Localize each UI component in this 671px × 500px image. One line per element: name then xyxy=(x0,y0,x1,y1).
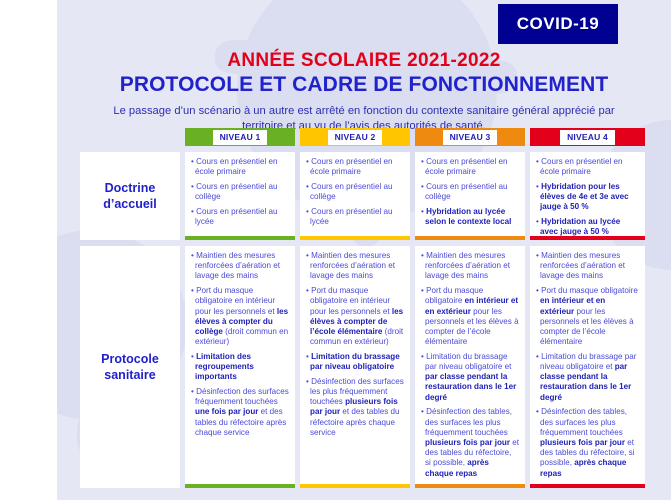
bullet-item: • Port du masque obligatoire en intérieu… xyxy=(306,286,404,347)
bullet-text: Cours en présentiel en école primaire xyxy=(195,157,278,176)
bullet-text: Maintien des mesures renforcées d’aérati… xyxy=(310,251,395,280)
bullet-text: Maintien des mesures renforcées d’aérati… xyxy=(425,251,510,280)
bullet-text: Cours en présentiel au collège xyxy=(195,182,278,201)
bullet-text: Cours en présentiel au collège xyxy=(310,182,393,201)
bullet-item: • Cours en présentiel en école primaire xyxy=(191,157,289,177)
bullet-item: • Cours en présentiel au collège xyxy=(191,182,289,202)
level-badge-label: NIVEAU 3 xyxy=(443,130,498,145)
table-header-row: NIVEAU 1NIVEAU 2NIVEAU 3NIVEAU 4 xyxy=(80,128,660,146)
cell-level-1: • Maintien des mesures renforcées d’aéra… xyxy=(185,246,295,488)
bullet-text: Désinfection des tables, des surfaces le… xyxy=(425,407,512,436)
title-block: ANNÉE SCOLAIRE 2021-2022 PROTOCOLE ET CA… xyxy=(57,50,671,134)
bullet-text-emphasis: Hybridation au lycée selon le contexte l… xyxy=(425,207,511,226)
bullet-text-emphasis: Hybridation pour les élèves de 4e et 3e … xyxy=(540,182,629,211)
bullet-item: • Port du masque obligatoire en intérieu… xyxy=(191,286,289,347)
bullet-item: • Maintien des mesures renforcées d’aéra… xyxy=(421,251,519,282)
page-title-schoolyear: ANNÉE SCOLAIRE 2021-2022 xyxy=(57,50,671,72)
page-title-protocol: PROTOCOLE ET CADRE DE FONCTIONNEMENT xyxy=(57,73,671,97)
bullet-text: Port du masque obligatoire en intérieur … xyxy=(195,286,277,315)
bullet-item: • Limitation du brassage par niveau obli… xyxy=(421,352,519,403)
cell-level-3: • Maintien des mesures renforcées d’aéra… xyxy=(415,246,525,488)
bullet-text-emphasis: une fois par jour xyxy=(195,407,258,416)
bullet-text: Maintien des mesures renforcées d’aérati… xyxy=(195,251,280,280)
bullet-item: • Cours en présentiel au lycée xyxy=(191,207,289,227)
bullet-text-emphasis: Limitation du brassage par niveau obliga… xyxy=(310,352,400,371)
bullet-item: • Limitation des regroupements important… xyxy=(191,352,289,383)
table-row: Doctrine d’accueil• Cours en présentiel … xyxy=(80,152,660,240)
header-label-spacer xyxy=(80,128,180,146)
bullet-item: • Désinfection des tables, des surfaces … xyxy=(536,407,639,478)
row-label: Protocole sanitaire xyxy=(80,246,180,488)
protocol-table: NIVEAU 1NIVEAU 2NIVEAU 3NIVEAU 4 Doctrin… xyxy=(80,128,660,488)
bullet-text: Limitation du brassage par niveau obliga… xyxy=(425,352,511,371)
level-badge-label: NIVEAU 4 xyxy=(560,130,615,145)
bullet-item: • Cours en présentiel en école primaire xyxy=(421,157,519,177)
row-label-text: Protocole sanitaire xyxy=(80,351,180,383)
bullet-text: Cours en présentiel au lycée xyxy=(195,207,278,226)
bullet-item: • Port du masque obligatoire en intérieu… xyxy=(536,286,639,347)
level-badge-label: NIVEAU 1 xyxy=(213,130,268,145)
bullet-text-emphasis: par classe pendant la restauration dans … xyxy=(425,372,516,401)
bullet-item: • Désinfection des tables, des surfaces … xyxy=(421,407,519,478)
bullet-item: • Cours en présentiel au lycée xyxy=(306,207,404,227)
bullet-text: Cours en présentiel au lycée xyxy=(310,207,393,226)
bullet-item: • Hybridation au lycée avec jauge à 50 % xyxy=(536,217,639,237)
covid-19-badge-label: COVID-19 xyxy=(517,14,599,34)
bullet-item: • Maintien des mesures renforcées d’aéra… xyxy=(536,251,639,282)
cell-level-4: • Maintien des mesures renforcées d’aéra… xyxy=(530,246,645,488)
bullet-text: Cours en présentiel au collège xyxy=(425,182,508,201)
bullet-text: Désinfection des surfaces fréquemment to… xyxy=(195,387,289,406)
cell-level-4: • Cours en présentiel en école primaire•… xyxy=(530,152,645,240)
bullet-text-emphasis: Limitation des regroupements importants xyxy=(195,352,254,381)
cell-level-3: • Cours en présentiel en école primaire•… xyxy=(415,152,525,240)
infographic-page: COVID-19 ANNÉE SCOLAIRE 2021-2022 PROTOC… xyxy=(0,0,671,500)
bullet-item: • Désinfection des surfaces les plus fré… xyxy=(306,377,404,438)
bullet-item: • Désinfection des surfaces fréquemment … xyxy=(191,387,289,438)
bullet-item: • Maintien des mesures renforcées d’aéra… xyxy=(306,251,404,282)
bullet-text-emphasis: Hybridation au lycée avec jauge à 50 % xyxy=(540,217,620,236)
level-header-1: NIVEAU 1 xyxy=(185,128,295,146)
table-row: Protocole sanitaire• Maintien des mesure… xyxy=(80,246,660,488)
bullet-item: • Limitation du brassage par niveau obli… xyxy=(536,352,639,403)
bullet-item: • Hybridation pour les élèves de 4e et 3… xyxy=(536,182,639,213)
bullet-item: • Port du masque obligatoire en intérieu… xyxy=(421,286,519,347)
covid-19-badge: COVID-19 xyxy=(498,4,618,44)
bullet-text-emphasis: plusieurs fois par jour xyxy=(540,438,625,447)
bullet-item: • Cours en présentiel au collège xyxy=(306,182,404,202)
cell-level-2: • Cours en présentiel en école primaire•… xyxy=(300,152,410,240)
bullet-item: • Cours en présentiel en école primaire xyxy=(536,157,639,177)
bullet-text: Cours en présentiel en école primaire xyxy=(310,157,393,176)
bullet-text: Désinfection des tables, des surfaces le… xyxy=(540,407,627,436)
bullet-item: • Hybridation au lycée selon le contexte… xyxy=(421,207,519,227)
level-header-3: NIVEAU 3 xyxy=(415,128,525,146)
bullet-text: Maintien des mesures renforcées d’aérati… xyxy=(540,251,625,280)
bullet-item: • Cours en présentiel en école primaire xyxy=(306,157,404,177)
row-label-text: Doctrine d’accueil xyxy=(80,180,180,212)
bullet-item: • Cours en présentiel au collège xyxy=(421,182,519,202)
bullet-text: Port du masque obligatoire xyxy=(541,286,638,295)
bullet-text: Cours en présentiel en école primaire xyxy=(425,157,508,176)
bullet-text: Cours en présentiel en école primaire xyxy=(540,157,623,176)
row-label: Doctrine d’accueil xyxy=(80,152,180,240)
cell-level-1: • Cours en présentiel en école primaire•… xyxy=(185,152,295,240)
bullet-text-emphasis: plusieurs fois par jour xyxy=(425,438,510,447)
bullet-item: • Maintien des mesures renforcées d’aéra… xyxy=(191,251,289,282)
bullet-item: • Limitation du brassage par niveau obli… xyxy=(306,352,404,372)
cell-level-2: • Maintien des mesures renforcées d’aéra… xyxy=(300,246,410,488)
level-badge-label: NIVEAU 2 xyxy=(328,130,383,145)
level-header-4: NIVEAU 4 xyxy=(530,128,645,146)
bullet-text: Port du masque obligatoire en intérieur … xyxy=(310,286,392,315)
level-header-2: NIVEAU 2 xyxy=(300,128,410,146)
